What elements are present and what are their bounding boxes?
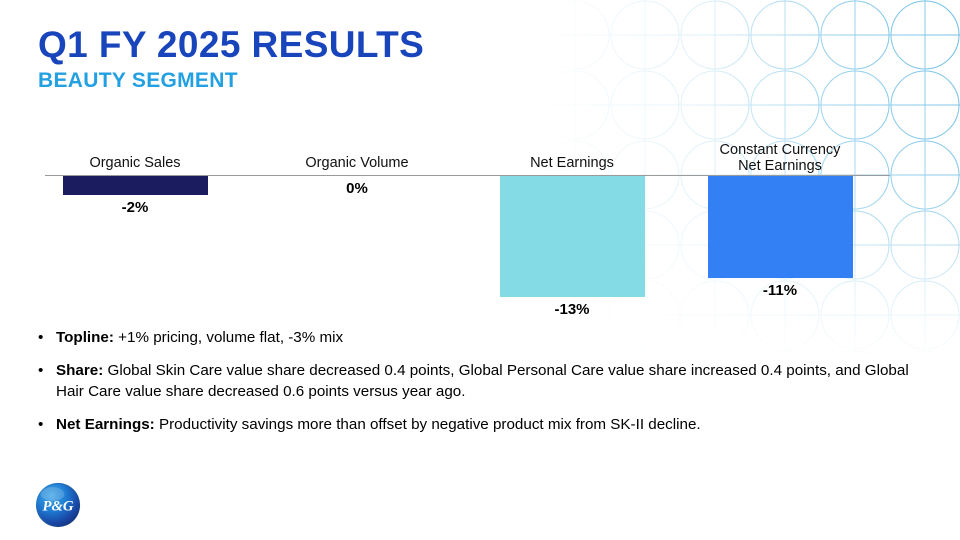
bar-chart: Organic Sales -2% Organic Volume 0% Net … [45,128,890,328]
bar-value-label: 0% [267,180,447,197]
bar-constant-currency-net-earnings [708,176,853,278]
title-block: Q1 FY 2025 RESULTS BEAUTY SEGMENT [38,26,424,92]
bullet-item-share: •Share: Global Skin Care value share dec… [32,361,922,402]
bar-category-label: Constant Currency Net Earnings [690,142,870,175]
pg-logo: P&G [35,482,81,528]
bar-column-organic-volume: Organic Volume 0% [267,128,447,328]
bar-column-net-earnings: Net Earnings -13% [482,128,662,328]
bar-value-label: -13% [482,301,662,318]
bullet-item-topline: •Topline: +1% pricing, volume flat, -3% … [32,328,922,348]
bar-value-label: -2% [45,199,225,216]
bullet-text: Productivity savings more than offset by… [155,416,701,433]
bar-column-constant-currency-net-earnings: Constant Currency Net Earnings -11% [690,128,870,328]
bullet-list: •Topline: +1% pricing, volume flat, -3% … [32,328,922,448]
bullet-lead: Net Earnings: [56,416,155,433]
bar-organic-sales [63,176,208,195]
bullet-marker-icon: • [38,361,43,381]
bar-value-label: -11% [690,282,870,299]
bar-category-label: Organic Sales [45,155,225,172]
bullet-lead: Topline: [56,329,114,346]
pg-logo-text: P&G [42,499,73,515]
bar-net-earnings [500,176,645,297]
bar-column-organic-sales: Organic Sales -2% [45,128,225,328]
bullet-lead: Share: [56,362,103,379]
bullet-marker-icon: • [38,415,43,435]
bullet-item-net-earnings: •Net Earnings: Productivity savings more… [32,415,922,435]
page-title: Q1 FY 2025 RESULTS [38,26,424,65]
bar-category-label: Organic Volume [267,155,447,172]
page-subtitle: BEAUTY SEGMENT [38,69,424,92]
bullet-marker-icon: • [38,328,43,348]
bullet-text: Global Skin Care value share decreased 0… [56,362,909,399]
bar-category-label: Net Earnings [482,155,662,172]
bullet-text: +1% pricing, volume flat, -3% mix [114,329,343,346]
slide-canvas: Q1 FY 2025 RESULTS BEAUTY SEGMENT Organi… [0,0,960,540]
